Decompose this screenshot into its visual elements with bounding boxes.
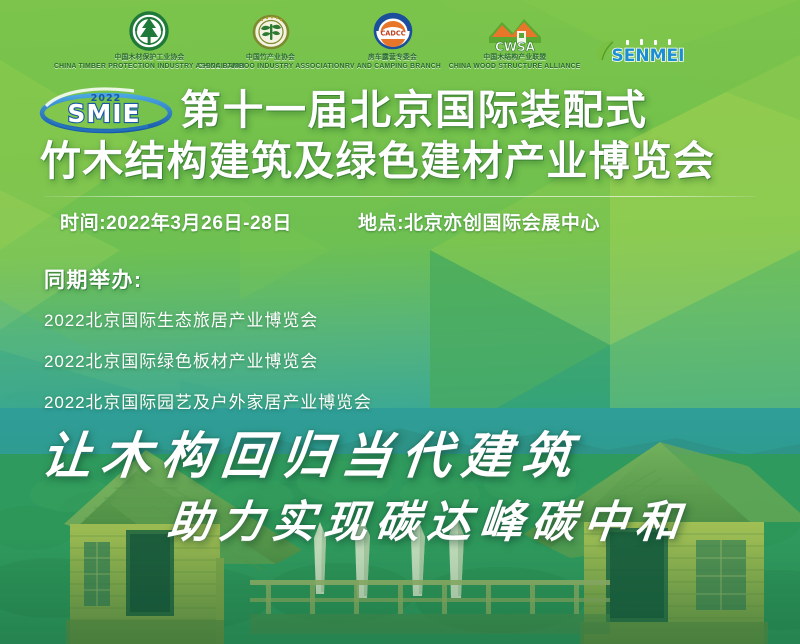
concurrent-item-3: 2022北京国际园艺及户外家居产业博览会 [44, 388, 372, 413]
organizer-logo-ctpia: 中国木材保护工业协会 CHINA TIMBER PROTECTION INDUS… [101, 8, 197, 70]
organizer-name-en-cwsa: CHINA WOOD STRUCTURE ALLIANCE [449, 63, 581, 70]
svg-text:CWSA: CWSA [495, 40, 536, 53]
title-line-2: 竹木结构建筑及绿色建材产业博览会 [24, 141, 776, 182]
svg-text:SMIE: SMIE [67, 99, 140, 128]
house-roof-emblem-icon: CWSA [486, 13, 544, 53]
smie-oval-swoosh-icon: 2022 SMIE [38, 86, 174, 134]
organizer-name-cwsa: 中国木结构产业联盟 [483, 54, 546, 61]
concurrent-item-2: 2022北京国际绿色板材产业博览会 [44, 347, 372, 372]
leaf-wordmark-icon: SENMEI [592, 34, 696, 70]
slogan-line-2: 助力实现碳达峰碳中和 [165, 486, 692, 550]
concurrent-item-1: 2022北京国际生态旅居产业博览会 [44, 306, 372, 331]
svg-text:SENMEI: SENMEI [612, 46, 685, 66]
expo-poster: 中国木材保护工业协会 CHINA TIMBER PROTECTION INDUS… [0, 0, 800, 644]
organizer-logo-bar: 中国木材保护工业协会 CHINA TIMBER PROTECTION INDUS… [0, 0, 800, 78]
concurrent-events: 同期举办: 2022北京国际生态旅居产业博览会 2022北京国际绿色板材产业博览… [44, 264, 372, 429]
concurrent-heading: 同期举办: [44, 264, 372, 294]
organizer-name-en-bamboo: CHINA BAMBOO INDUSTRY ASSOCIATION [198, 63, 345, 70]
cadcc-emblem-icon: CADCC [371, 11, 415, 53]
organizer-name-en-cadcc: RV AND CAMPING BRANCH [345, 63, 441, 70]
slogan-line-1: 让木构回归当代建筑 [38, 416, 586, 488]
title-block: 2022 SMIE 第十一届北京国际装配式 竹木结构建筑及绿色建材产业博览会 时… [0, 86, 800, 235]
pine-tree-emblem-icon [127, 11, 171, 53]
organizer-logo-senmei: SENMEI [589, 8, 699, 70]
bamboo-emblem-icon [250, 13, 292, 53]
organizer-logo-cwsa: CWSA 中国木结构产业联盟 CHINA WOOD STRUCTURE ALLI… [467, 8, 563, 70]
title-line-1: 第十一届北京国际装配式 [180, 90, 648, 131]
organizer-logo-bamboo: 中国竹产业协会 CHINA BAMBOO INDUSTRY ASSOCIATIO… [223, 8, 319, 70]
title-row-primary: 2022 SMIE 第十一届北京国际装配式 [24, 86, 776, 134]
organizer-logo-cadcc: CADCC 房车露营专委会 RV AND CAMPING BRANCH [345, 8, 441, 70]
organizer-name-cadcc: 房车露营专委会 [368, 54, 417, 61]
deck-railing [250, 574, 610, 634]
title-divider [44, 196, 756, 197]
svg-text:CADCC: CADCC [380, 30, 405, 38]
event-meta-row: 时间:2022年3月26日-28日 地点:北京亦创国际会展中心 [24, 208, 776, 235]
organizer-name-bamboo: 中国竹产业协会 [246, 54, 295, 61]
organizer-name-ctpia: 中国木材保护工业协会 [114, 54, 184, 61]
event-venue: 地点:北京亦创国际会展中心 [358, 208, 600, 235]
event-date: 时间:2022年3月26日-28日 [60, 208, 292, 235]
